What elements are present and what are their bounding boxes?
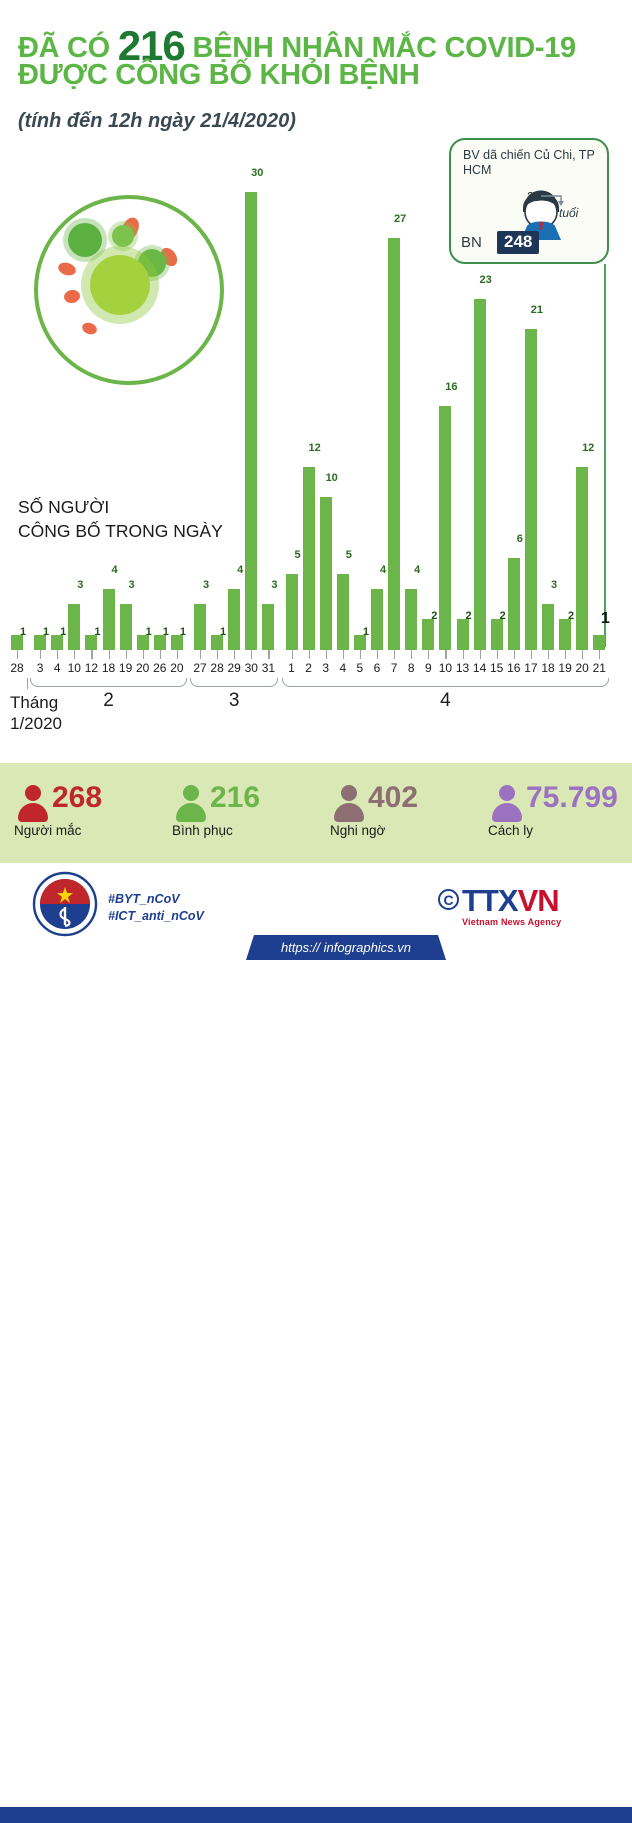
chart-bar-value: 21 [522,304,552,316]
axis-tick [463,650,464,659]
chart-bar-value: 3 [65,579,95,591]
axis-day-label: 31 [255,661,281,675]
chart-bar-value: 4 [402,564,432,576]
header: ĐÃ CÓ 216 BỆNH NHÂN MẮC COVID-19 ĐƯỢC CÔ… [0,0,632,120]
chart-bar [542,604,554,650]
chart-bar [103,589,115,650]
ttxvn-subtitle: Vietnam News Agency [462,917,602,927]
chart-bar [508,558,520,650]
axis-day-label: 20 [164,661,190,675]
axis-tick [343,650,344,659]
chart-bar [371,589,383,650]
chart-bar [525,329,537,650]
axis-tick [377,650,378,659]
stat-item: 216Bình phục [158,763,316,863]
axis-tick [234,650,235,659]
chart-bar [337,574,349,650]
ministry-of-health-logo [32,871,98,937]
axis-tick [200,650,201,659]
stat-label: Nghi ngờ [330,823,385,838]
axis-tick [411,650,412,659]
hashtag-ict: #ICT_anti_nCoV [108,908,204,925]
chart-bar-value: 3 [191,579,221,591]
chart-bar-value: 1 [590,610,620,628]
axis-tick [309,650,310,659]
hashtags: #BYT_nCoV #ICT_anti_nCoV [108,891,204,925]
chart-bar-value: 23 [471,274,501,286]
axis-tick [292,650,293,659]
axis-tick [74,650,75,659]
axis-tick [109,650,110,659]
chart-bar [593,635,605,650]
chart-bar-value: 12 [573,442,603,454]
stat-label: Người mắc [14,823,81,838]
january-tick [27,678,28,689]
ttxvn-logo: TTXVN Vietnam News Agency [462,885,602,929]
chart-bar [474,299,486,650]
chart-caption-line1: SỐ NGƯỜI [18,495,223,519]
axis-tick [548,650,549,659]
axis-month-bracket [30,678,187,687]
person-icon [334,785,364,821]
chart-bar-value: 10 [317,472,347,484]
january-month-label: Tháng1/2020 [10,692,62,734]
axis-month-label: 4 [425,690,465,712]
ttxvn-vn: VN [518,883,559,918]
axis-tick [268,650,269,659]
chart-bar [194,604,206,650]
axis-tick [497,650,498,659]
copyright-icon: C [438,889,459,910]
chart-bar-value: 4 [100,564,130,576]
chart-bar [228,589,240,650]
page-subtitle: (tính đến 12h ngày 21/4/2020) [18,110,296,133]
axis-tick [177,650,178,659]
axis-day-label: 28 [4,661,30,675]
chart-bar [245,192,257,650]
axis-tick [40,650,41,659]
stat-value: 402 [368,781,418,815]
axis-tick [143,650,144,659]
chart-bar-value: 16 [436,381,466,393]
axis-tick [565,650,566,659]
chart-bar [405,589,417,650]
stat-value: 216 [210,781,260,815]
chart-bar-value: 3 [117,579,147,591]
chart-bar [303,467,315,650]
axis-tick [126,650,127,659]
axis-month-label: 2 [89,690,129,712]
hashtag-byt: #BYT_nCoV [108,891,204,908]
bar-chart: 1113143111314303512105142742162232621321… [0,170,632,650]
axis-month-label: 3 [214,690,254,712]
chart-bar [286,574,298,650]
axis-tick [360,650,361,659]
axis-tick [445,650,446,659]
axis-tick [531,650,532,659]
chart-bar [439,406,451,650]
axis-tick [480,650,481,659]
chart-axis: Tháng1/2020 2834101218192026202728293031… [0,650,632,760]
chart-caption-line2: CÔNG BỐ TRONG NGÀY [18,519,223,543]
axis-tick [428,650,429,659]
axis-month-bracket [190,678,278,687]
chart-bar-value: 30 [242,167,272,179]
chart-bar [422,619,434,650]
chart-bar-value: 27 [385,213,415,225]
chart-bar [491,619,503,650]
chart-bar [457,619,469,650]
chart-bar [388,238,400,650]
axis-day-label: 21 [586,661,612,675]
chart-bar [262,604,274,650]
source-url[interactable]: https:// infographics.vn [246,935,446,960]
stat-value: 268 [52,781,102,815]
person-icon [492,785,522,821]
axis-tick [599,650,600,659]
axis-tick [251,650,252,659]
ttxvn-ttx: TTX [462,883,518,918]
axis-tick [326,650,327,659]
page-title-line2: ĐƯỢC CÔNG BỐ KHỎI BỆNH [18,59,419,92]
axis-tick [57,650,58,659]
axis-tick [394,650,395,659]
chart-bar [559,619,571,650]
person-icon [176,785,206,821]
footer: #BYT_nCoV #ICT_anti_nCoV C TTXVN Vietnam… [0,863,632,960]
chart-bar [576,467,588,650]
stat-item: 402Nghi ngờ [316,763,474,863]
ttxvn-wordmark: TTXVN [462,885,602,917]
chart-bar [320,497,332,650]
summary-stats-band: 268Người mắc216Bình phục402Nghi ngờ75.79… [0,763,632,863]
axis-tick [217,650,218,659]
axis-tick [582,650,583,659]
stat-item: 75.799Cách ly [474,763,632,863]
axis-tick [91,650,92,659]
footer-bottom-bar [0,1807,632,1823]
axis-tick [17,650,18,659]
stat-value: 75.799 [526,781,618,815]
person-icon [18,785,48,821]
stat-item: 268Người mắc [0,763,158,863]
chart-bar-value: 12 [300,442,330,454]
chart-bar [68,604,80,650]
chart-caption: SỐ NGƯỜI CÔNG BỐ TRONG NGÀY [18,495,223,543]
axis-tick [514,650,515,659]
chart-bar-value: 5 [334,549,364,561]
stat-label: Cách ly [488,823,533,838]
chart-bar-value: 3 [539,579,569,591]
axis-tick [160,650,161,659]
chart-bar [120,604,132,650]
stat-label: Bình phục [172,823,233,838]
axis-month-bracket [282,678,610,687]
